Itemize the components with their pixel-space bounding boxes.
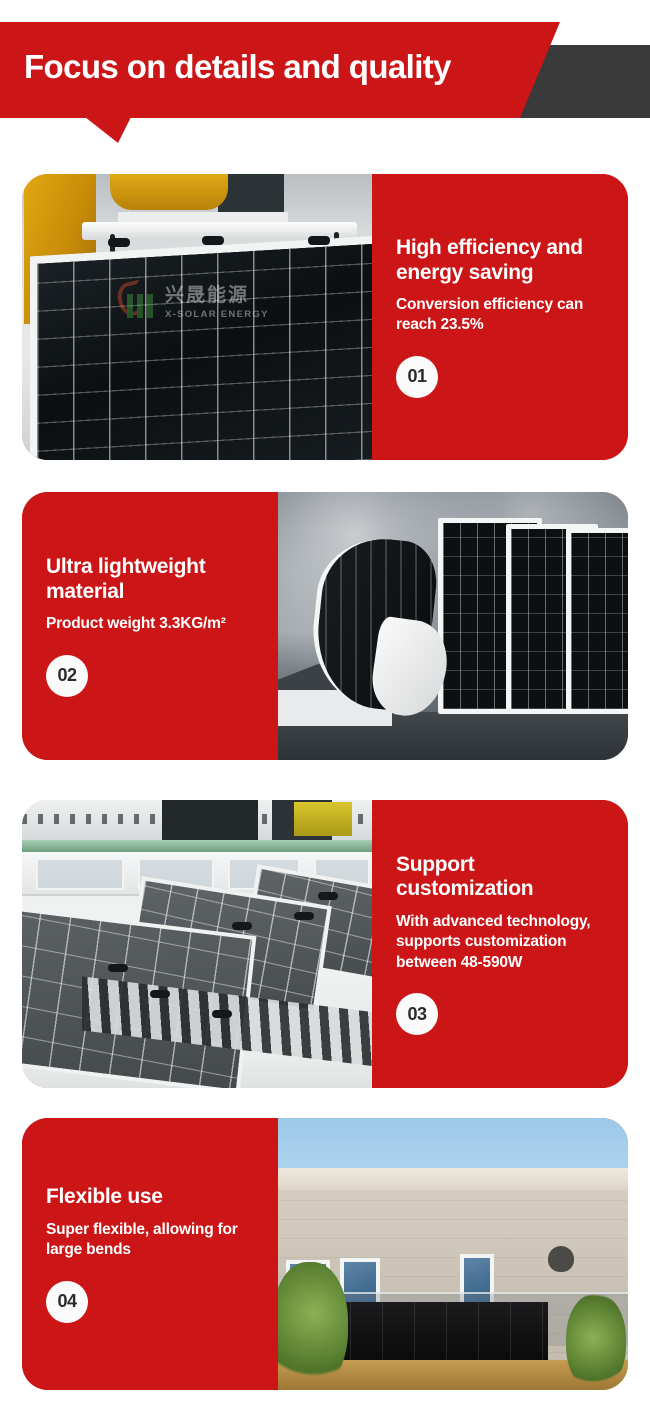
feature-badge-01: 01 <box>396 356 438 398</box>
feature-card-01[interactable]: 兴晟能源 X-SOLAR ENERGY High efficiency and … <box>22 174 628 460</box>
page-title: Focus on details and quality <box>24 48 451 86</box>
brand-logo-icon <box>118 280 158 320</box>
feature-text-03: Support customization With advanced tech… <box>372 800 628 1088</box>
feature-card-04[interactable]: Flexible use Super flexible, allowing fo… <box>22 1118 628 1390</box>
feature-text-04: Flexible use Super flexible, allowing fo… <box>22 1118 278 1390</box>
feature-image-02 <box>278 492 628 760</box>
feature-card-02[interactable]: Ultra lightweight material Product weigh… <box>22 492 628 760</box>
feature-title-03: Support customization <box>396 853 608 902</box>
feature-image-03 <box>22 800 372 1088</box>
feature-title-01: High efficiency and energy saving <box>396 236 608 285</box>
feature-badge-04: 04 <box>46 1281 88 1323</box>
feature-desc-04: Super flexible, allowing for large bends <box>46 1220 258 1261</box>
wall-lamp-icon <box>548 1246 574 1272</box>
header-banner-pointer <box>85 117 131 143</box>
balcony-solar-panel <box>318 1302 548 1364</box>
feature-text-01: High efficiency and energy saving Conver… <box>372 174 628 460</box>
feature-image-01: 兴晟能源 X-SOLAR ENERGY <box>22 174 372 460</box>
brand-watermark: 兴晟能源 X-SOLAR ENERGY <box>118 272 298 328</box>
brand-name-cn: 兴晟能源 <box>165 280 269 307</box>
feature-title-02: Ultra lightweight material <box>46 555 258 604</box>
feature-title-04: Flexible use <box>46 1185 258 1209</box>
feature-badge-02: 02 <box>46 655 88 697</box>
feature-desc-03: With advanced technology, supports custo… <box>396 912 608 973</box>
page-header: Focus on details and quality <box>0 0 650 160</box>
feature-badge-03: 03 <box>396 993 438 1035</box>
feature-image-04 <box>278 1118 628 1390</box>
feature-desc-01: Conversion efficiency can reach 23.5% <box>396 295 608 336</box>
feature-desc-02: Product weight 3.3KG/m² <box>46 614 258 634</box>
feature-card-03[interactable]: Support customization With advanced tech… <box>22 800 628 1088</box>
feature-text-02: Ultra lightweight material Product weigh… <box>22 492 278 760</box>
brand-name-en: X-SOLAR ENERGY <box>165 309 269 320</box>
